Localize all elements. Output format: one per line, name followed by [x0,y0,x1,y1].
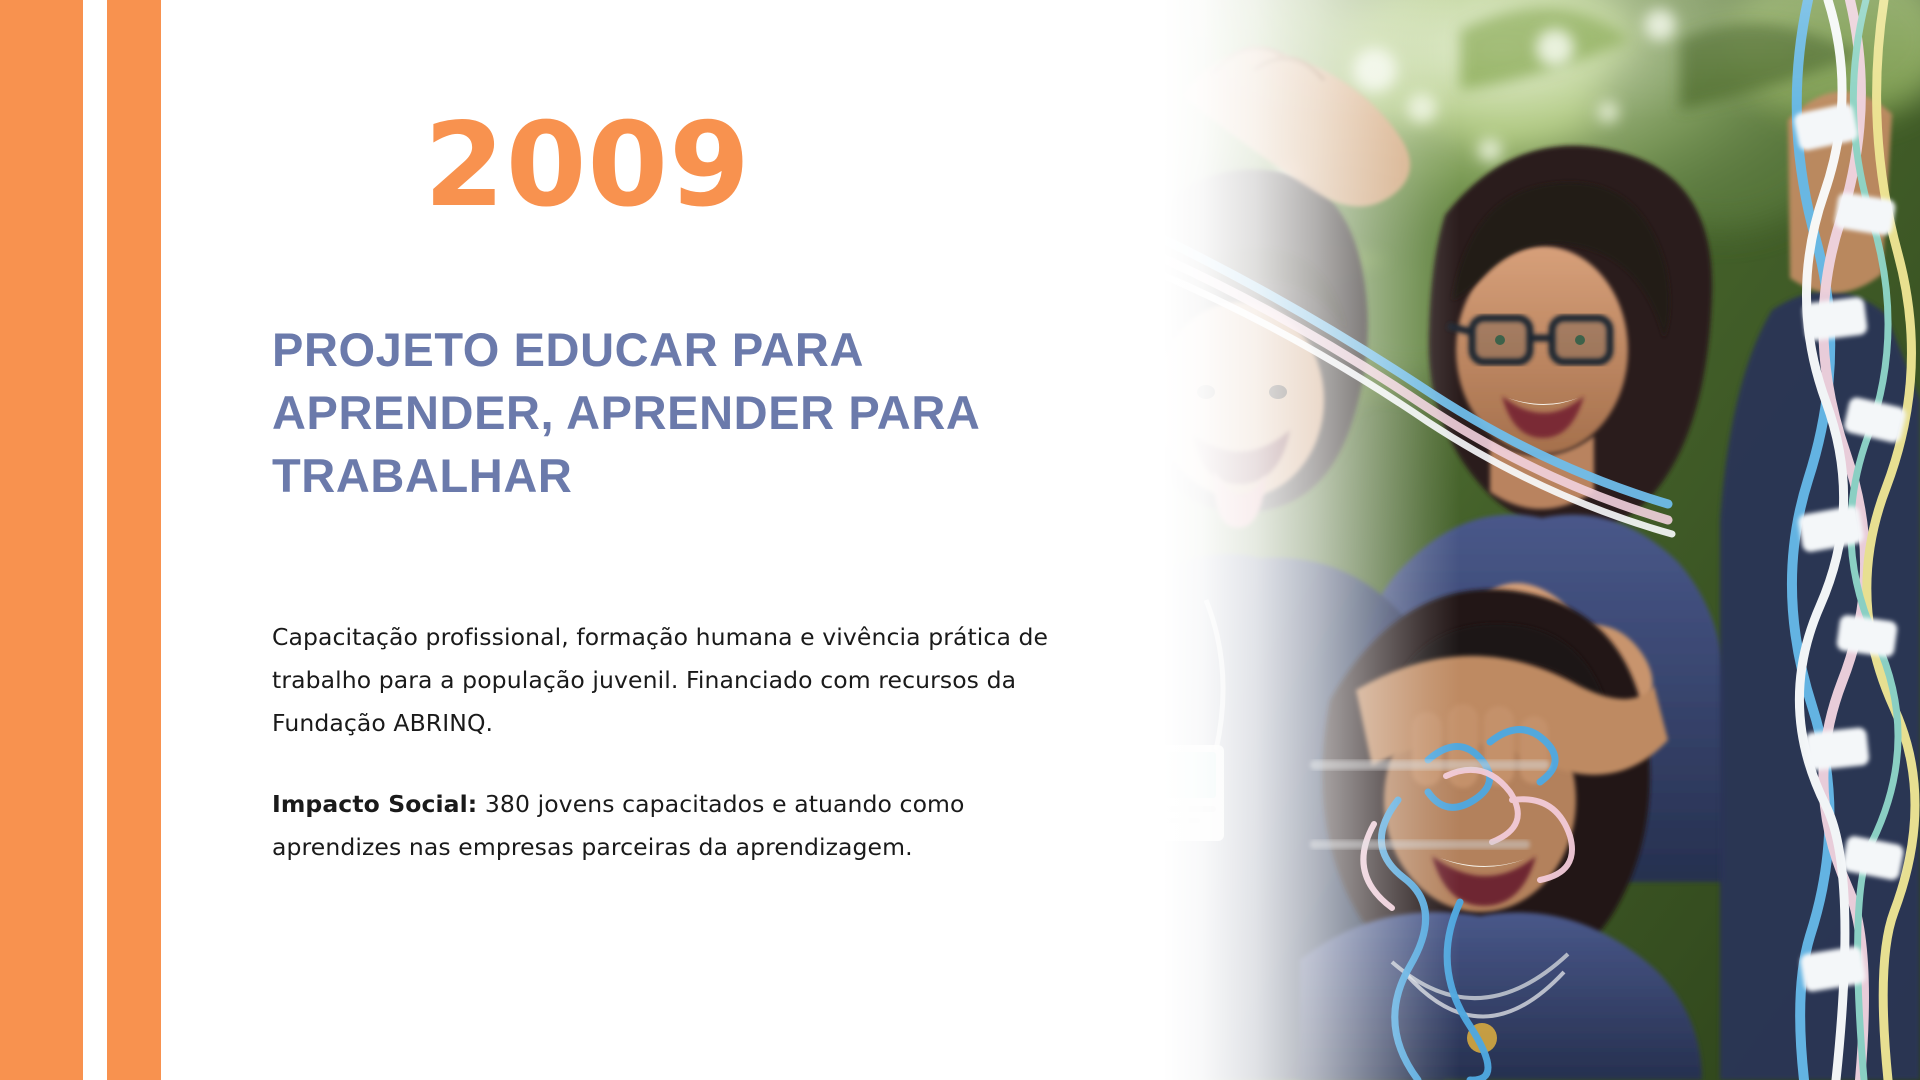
paragraph-impact: Impacto Social: 380 jovens capacitados e… [272,783,1072,869]
page-title-line-2: APRENDER, APRENDER PARA [272,381,1072,444]
paragraph-description-text: Capacitação profissional, formação human… [272,623,1048,737]
page-title-line-1: PROJETO EDUCAR PARA [272,318,1072,381]
year-title: 2009 [424,108,751,224]
impact-label: Impacto Social: [272,790,477,818]
content-column: 2009 PROJETO EDUCAR PARA APRENDER, APREN… [272,0,1092,1080]
paragraph-description: Capacitação profissional, formação human… [272,616,1072,745]
body-text-block: Capacitação profissional, formação human… [272,592,1072,892]
hero-photo [1160,0,1920,1080]
page-title-line-3: TRABALHAR [272,444,1072,507]
slide-canvas: 2009 PROJETO EDUCAR PARA APRENDER, APREN… [0,0,1920,1080]
orange-bar-wide [0,0,83,1080]
page-title: PROJETO EDUCAR PARA APRENDER, APRENDER P… [272,318,1072,507]
orange-bar-thin [107,0,161,1080]
